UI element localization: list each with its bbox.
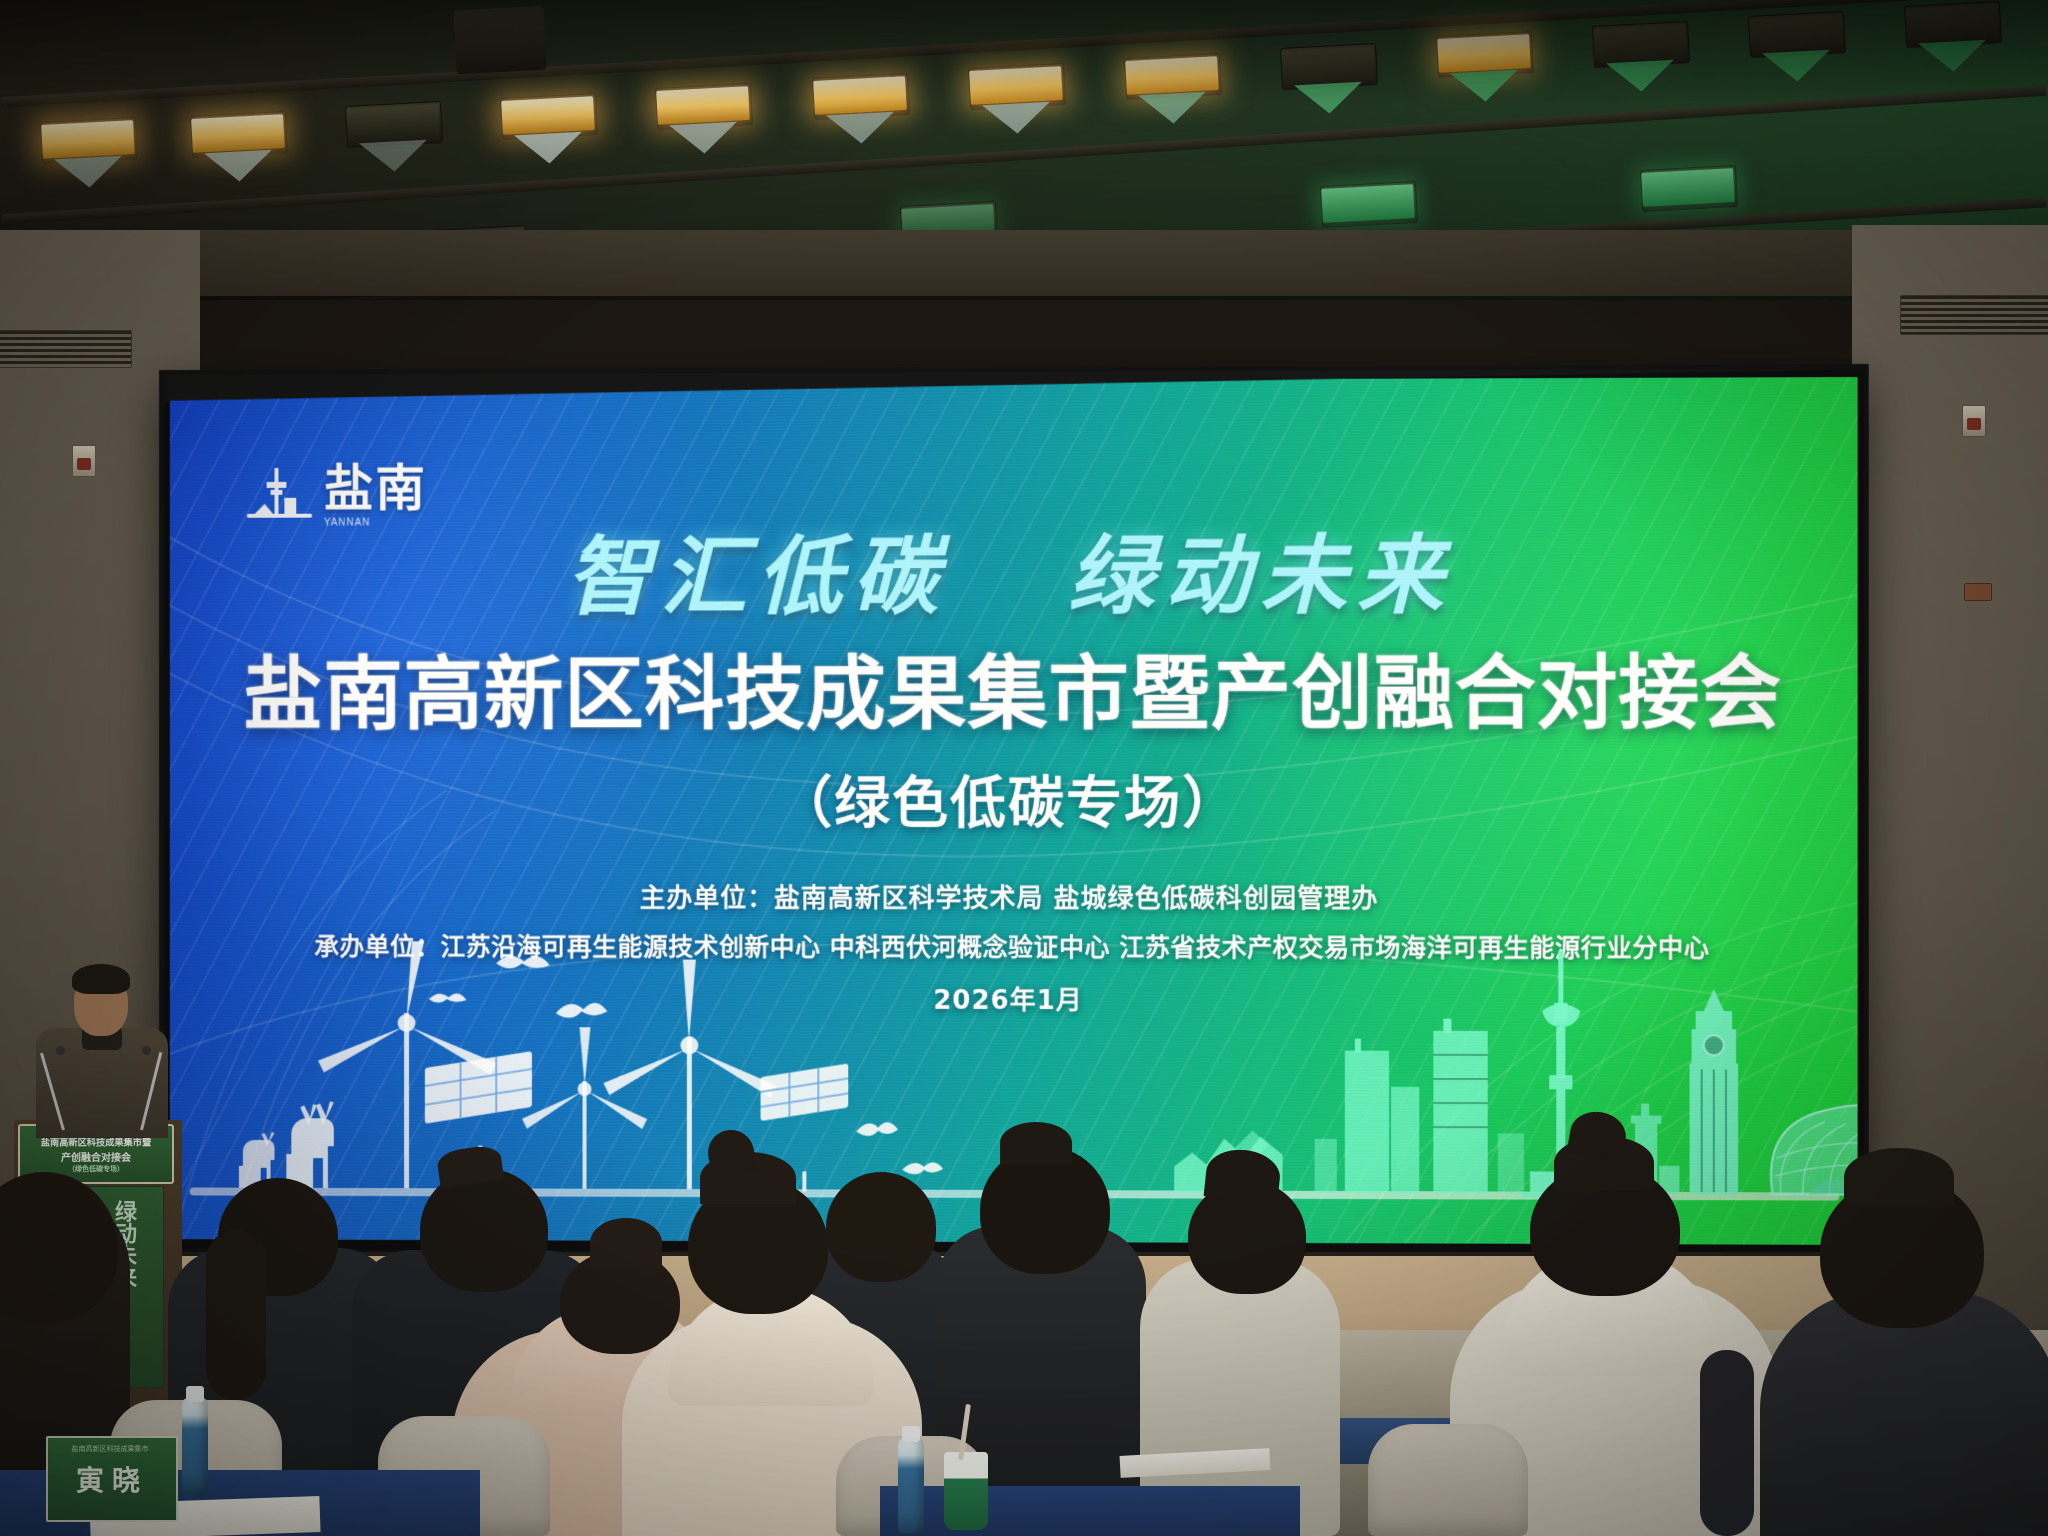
podium-sign-line2: 产创融合对接会 [61, 1149, 131, 1164]
water-bottle [182, 1398, 208, 1494]
bottle-cap [902, 1426, 920, 1442]
wall-socket-right [1964, 583, 1992, 601]
wall-top-strip [0, 230, 2048, 296]
fire-alarm-right [1962, 405, 1986, 437]
podium-sign-line3: （绿色低碳专场） [68, 1164, 124, 1174]
conference-photo: 盐南 YANNAN 智汇低碳 绿动未来 盐南高新区科技成果集市暨产创融合对接会 … [0, 0, 2048, 1536]
chair [1368, 1424, 1528, 1536]
fire-alarm-left [72, 445, 96, 477]
water-bottle [898, 1438, 924, 1534]
microphone-head [142, 1046, 151, 1055]
speaker-hair [72, 964, 130, 994]
name-card-text: 寅晓 [76, 1459, 148, 1499]
drink-cup [944, 1452, 988, 1530]
microphone-head [56, 1046, 65, 1055]
bottle-cap [186, 1386, 204, 1402]
table [880, 1486, 1300, 1536]
vent-grille-left [0, 330, 132, 368]
vent-grille-right [1900, 295, 2048, 335]
name-card-header: 盐南高新区科技成果集市 [52, 1440, 168, 1458]
